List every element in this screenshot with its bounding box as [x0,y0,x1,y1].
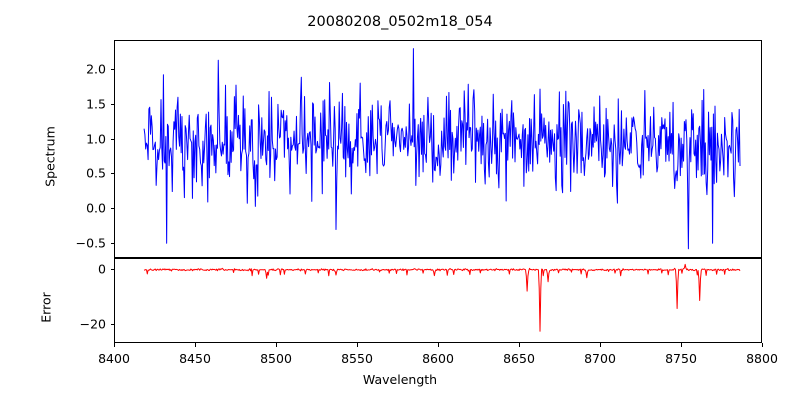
x-tick-label: 8700 [584,351,616,366]
x-axis-label: Wavelength [0,372,800,387]
spectrum-y-tick-mark [111,69,115,70]
page-title: 20080208_0502m18_054 [0,14,800,30]
x-tick-mark [357,343,358,347]
x-tick-label: 8450 [179,351,211,366]
x-tick-label: 8600 [422,351,454,366]
figure-canvas: 20080208_0502m18_054 −0.50.00.51.01.52.0… [0,0,800,400]
spectrum-y-tick-mark [111,243,115,244]
spectrum-y-tick-label: 2.0 [46,62,106,77]
spectrum-y-tick-mark [111,139,115,140]
x-tick-label: 8750 [665,351,697,366]
error-y-tick-mark [111,269,115,270]
x-tick-label: 8400 [98,351,130,366]
error-line-series [115,259,761,342]
spectrum-y-tick-mark [111,104,115,105]
spectrum-line-series [115,41,761,257]
error-plot-axes [114,258,762,343]
x-tick-label: 8650 [503,351,535,366]
error-y-tick-label: −20 [46,316,106,331]
x-tick-mark [519,343,520,347]
x-tick-mark [438,343,439,347]
spectrum-axis-label: Spectrum [43,97,58,217]
error-axis-label: Error [39,248,54,368]
x-tick-mark [762,343,763,347]
x-tick-label: 8550 [341,351,373,366]
spectrum-plot-axes [114,40,762,258]
x-tick-mark [276,343,277,347]
error-y-tick-label: 0 [46,262,106,277]
x-tick-label: 8800 [746,351,778,366]
x-tick-mark [681,343,682,347]
spectrum-y-tick-label: −0.5 [46,235,106,250]
spectrum-y-tick-mark [111,208,115,209]
x-tick-mark [114,343,115,347]
x-tick-mark [195,343,196,347]
error-y-tick-mark [111,324,115,325]
x-tick-label: 8500 [260,351,292,366]
spectrum-y-tick-mark [111,173,115,174]
x-tick-mark [600,343,601,347]
